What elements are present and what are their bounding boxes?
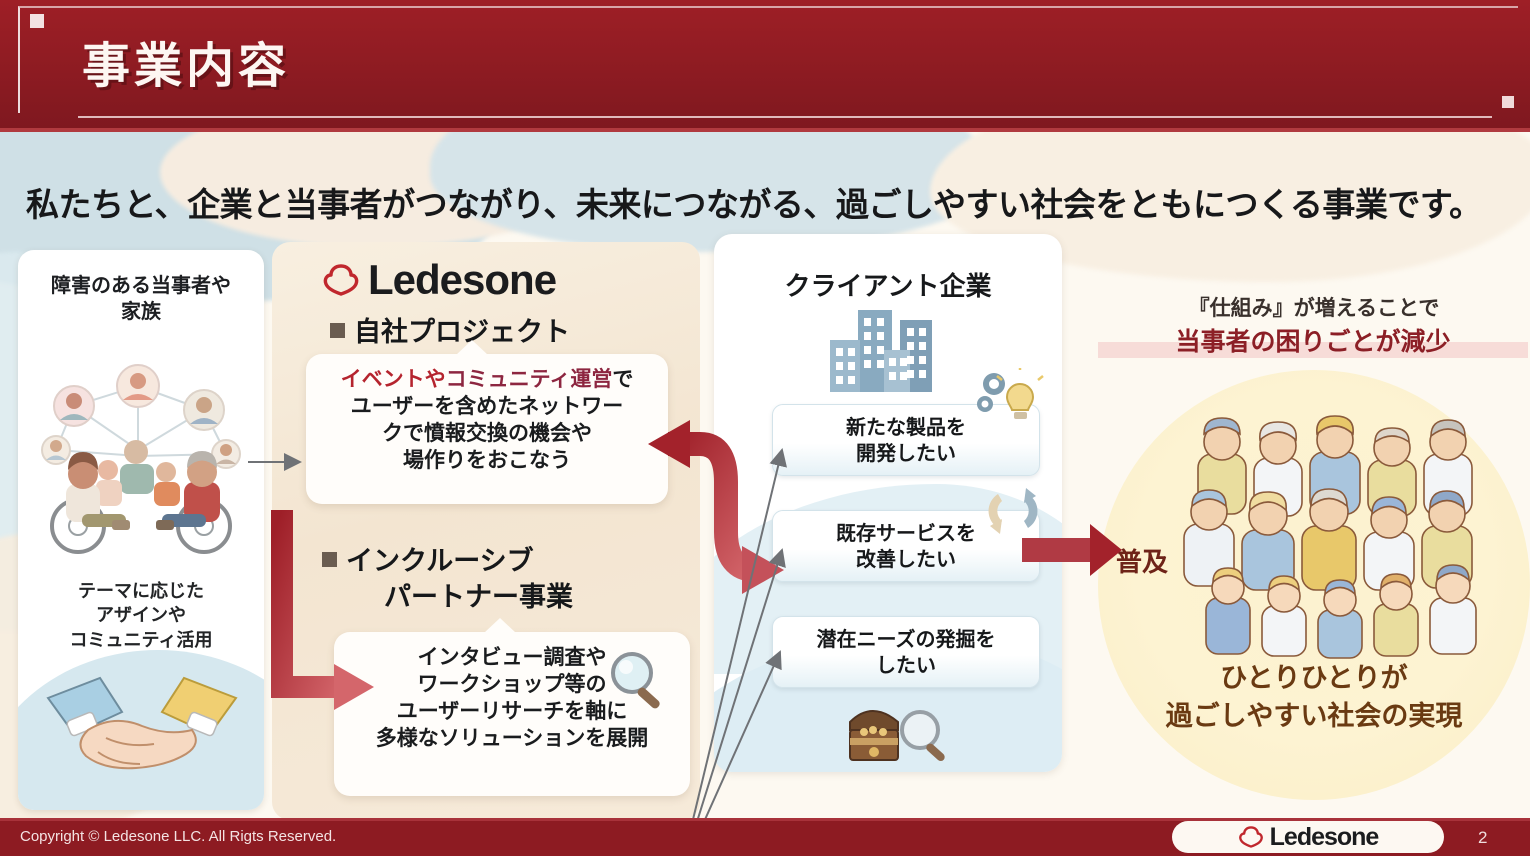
recycle-arrows-icon (982, 482, 1044, 540)
bubble-project-line4: 場作りをおこなう (316, 447, 658, 474)
beneficiary-title-line1: 障害のある当事者や (51, 273, 231, 297)
slide-body: 私たちと、企業と当事者がつながり、未来につながる、過ごしやすい社会をともにつくる… (0, 132, 1530, 818)
header-square-marker-bottom-right (1502, 96, 1514, 108)
outcome-note-top: 『仕組み』が増えることで (1104, 292, 1524, 322)
handshake-icon (44, 668, 240, 788)
magnifier-icon (602, 646, 674, 718)
handshake-svg (44, 668, 240, 788)
bubble-project-line1: イベントやコミュニティ運営で (316, 366, 658, 393)
bubble-project-line1-c: で (612, 367, 633, 391)
office-buildings-icon (822, 302, 962, 402)
need-box-latent-needs[interactable]: 潜在ニーズの発掘を したい (772, 616, 1040, 688)
need-2-line2: 改善したい (856, 546, 956, 572)
outcome-note-highlight: 当事者の困りごとが減少 (1098, 322, 1528, 358)
header-underline-decoration (78, 116, 1492, 118)
beneficiary-caption-line2: アザインや (96, 605, 186, 626)
beneficiary-caption: テーマに応じた アザインや コミュニティ活用 (18, 580, 264, 653)
treasure-magnifier-icon (840, 696, 956, 770)
label-inclusive-partner: インクルーシブ パートナー事業 (322, 544, 573, 617)
bubble-own-project: イベントやコミュニティ運営で ユーザーを含めたネットワー クで憤報交換の機会や … (306, 354, 668, 504)
page-title: 事業内容 (82, 26, 290, 96)
beneficiary-title-line2: 家族 (121, 299, 161, 323)
magnifier-svg (602, 646, 674, 718)
bullet-square-icon (330, 323, 345, 338)
ledesone-logo-row: Ledesone (322, 256, 652, 304)
footer-logo-pill: Ledesone (1172, 821, 1444, 853)
bubble-project-line1-b: コミュニティ運営 (446, 367, 613, 391)
page-number: 2 (1478, 828, 1487, 848)
outcome-caption-line1: ひとりひとりが (1220, 663, 1407, 694)
label-own-project: 自社プロジェクト (330, 310, 570, 349)
need-2-line1: 既存サービスを (836, 520, 976, 546)
beneficiary-caption-line3: コミュニティ活用 (70, 630, 213, 651)
header-square-marker-top-left (30, 14, 44, 28)
need-3-line1: 潜在ニーズの発掘を (817, 626, 996, 652)
diverse-crowd-illustration (1180, 412, 1510, 662)
bubble-partner-line4: 多様なソリューションを展開 (344, 725, 680, 752)
label-inclusive-line2: パートナー事業 (322, 580, 573, 616)
client-panel-title: クライアント企業 (714, 266, 1062, 303)
label-inclusive-line1: インクルーシブ (346, 546, 534, 577)
label-spread: 普及 (1116, 542, 1168, 579)
need-3-line2: したい (876, 652, 936, 678)
card-beneficiary: 障害のある当事者や 家族 (18, 250, 264, 810)
copyright-text: Copyright © Ledesone LLC. All Rigts Rese… (20, 828, 336, 845)
footer-wordmark: Ledesone (1270, 823, 1379, 852)
bubble-project-line2: ユーザーを含めたネットワー (316, 393, 658, 420)
need-1-line1: 新たな製品を (846, 414, 966, 440)
ledesone-cloud-logo-footer (1238, 825, 1264, 849)
people-network-icon (26, 358, 256, 568)
headline-text: 私たちと、企業と当事者がつながり、未来につながる、過ごしやすい社会をともにつくる… (26, 178, 1506, 226)
panel-ledesone: Ledesone 自社プロジェクト イベントやコミュニティ運営で ユーザーを含め… (272, 242, 700, 818)
bubble-project-line1-a: イベントや (341, 367, 446, 391)
slide-header: 事業内容 (0, 0, 1530, 131)
ledesone-wordmark: Ledesone (368, 256, 556, 304)
gear-lightbulb-icon (972, 368, 1048, 434)
panel-client-company: クライアント企業 (714, 234, 1062, 772)
bullet-square-icon-2 (322, 552, 337, 567)
ledesone-cloud-logo (322, 263, 360, 297)
people-network-svg (26, 358, 256, 568)
crowd-svg (1180, 412, 1510, 662)
slide-root: 事業内容 私たちと、企業と当事者がつながり、未来につながる、過ごしやすい社会をと… (0, 0, 1530, 856)
beneficiary-title: 障害のある当事者や 家族 (18, 272, 264, 325)
slide-footer: Copyright © Ledesone LLC. All Rigts Rese… (0, 818, 1530, 856)
need-1-line2: 開発したい (856, 440, 956, 466)
bubble-inclusive-partner: インタビュー調査や ワークショップ等の ユーザーリサーチを軸に 多様なソリューシ… (334, 632, 690, 796)
beneficiary-caption-line1: テーマに応じた (78, 581, 204, 602)
bubble-project-line3: クで憤報交換の機会や (316, 420, 658, 447)
outcome-caption-line2: 過ごしやすい社会の実現 (1166, 701, 1463, 732)
outcome-caption: ひとりひとりが 過ごしやすい社会の実現 (1098, 660, 1530, 737)
